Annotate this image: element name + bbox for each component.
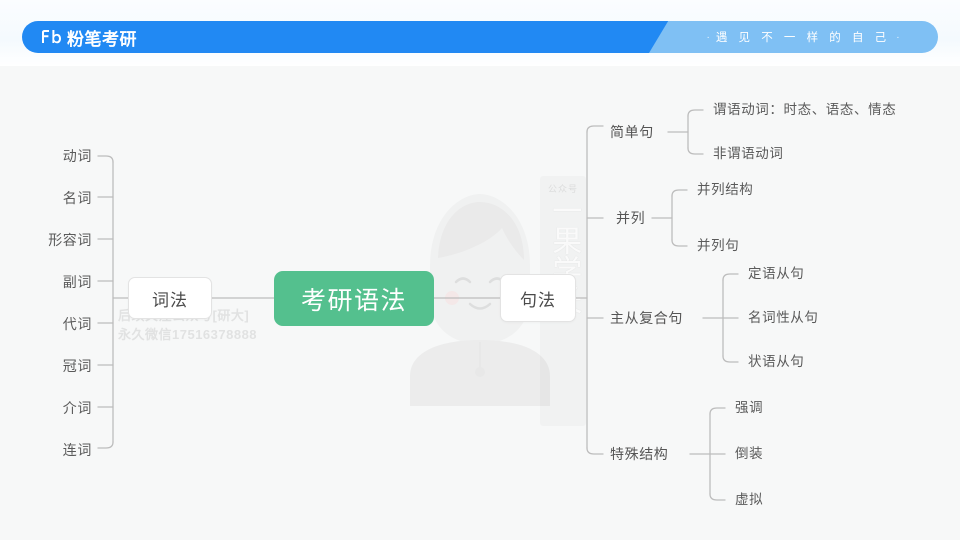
node-zhucongfuheju[interactable]: 主从复合句 bbox=[610, 311, 683, 325]
leaf-cifa-1[interactable]: 动词 bbox=[63, 149, 92, 163]
leaf-cifa-7[interactable]: 介词 bbox=[63, 401, 92, 415]
leaf-cifa-8[interactable]: 连词 bbox=[63, 443, 92, 457]
slogan-banner: · 遇 见 不 一 样 的 自 己 · bbox=[668, 21, 938, 53]
branch-node-jufa[interactable]: 句法 bbox=[500, 274, 576, 322]
leaf-zhucong-1[interactable]: 定语从句 bbox=[748, 267, 804, 281]
center-node-label: 考研语法 bbox=[301, 281, 407, 317]
leaf-jiandanju-2[interactable]: 非谓语动词 bbox=[713, 147, 784, 161]
leaf-cifa-6[interactable]: 冠词 bbox=[63, 359, 92, 373]
mindmap-canvas: 公众号 一果学长 后续关注公众号[研大] 永久微信17516378888 bbox=[0, 66, 960, 540]
slogan-text: 遇 见 不 一 样 的 自 己 bbox=[716, 29, 890, 45]
leaf-teshu-2[interactable]: 倒装 bbox=[735, 447, 763, 461]
leaf-teshu-3[interactable]: 虚拟 bbox=[735, 493, 763, 507]
leaf-cifa-3[interactable]: 形容词 bbox=[48, 233, 92, 247]
leaf-binglie-2[interactable]: 并列句 bbox=[697, 239, 739, 253]
leaf-cifa-2[interactable]: 名词 bbox=[63, 191, 92, 205]
branch-node-cifa-label: 词法 bbox=[152, 286, 188, 311]
mindmap-center-node[interactable]: 考研语法 bbox=[274, 271, 434, 326]
header-slogan: · 遇 见 不 一 样 的 自 己 · bbox=[706, 29, 899, 45]
page-header: 粉笔考研 · 遇 见 不 一 样 的 自 己 · bbox=[0, 0, 960, 66]
leaf-zhucong-2[interactable]: 名词性从句 bbox=[748, 311, 819, 325]
fb-logo-icon bbox=[40, 29, 62, 45]
leaf-teshu-1[interactable]: 强调 bbox=[735, 401, 763, 415]
leaf-cifa-4[interactable]: 副词 bbox=[63, 275, 92, 289]
branch-node-jufa-label: 句法 bbox=[520, 286, 556, 311]
leaf-cifa-5[interactable]: 代词 bbox=[63, 317, 92, 331]
leaf-zhucong-3[interactable]: 状语从句 bbox=[748, 355, 804, 369]
brand-name: 粉笔考研 bbox=[67, 25, 137, 50]
node-binglie[interactable]: 并列 bbox=[616, 211, 645, 225]
slogan-dot-left: · bbox=[706, 32, 709, 43]
leaf-binglie-1[interactable]: 并列结构 bbox=[697, 183, 753, 197]
slogan-dot-right: · bbox=[896, 32, 899, 43]
brand-banner: 粉笔考研 bbox=[22, 21, 670, 53]
branch-node-cifa[interactable]: 词法 bbox=[128, 277, 212, 319]
leaf-jiandanju-1[interactable]: 谓语动词：时态、语态、情态 bbox=[713, 103, 896, 117]
brand-logo: 粉笔考研 bbox=[22, 25, 137, 50]
node-teshujiegou[interactable]: 特殊结构 bbox=[610, 447, 668, 461]
node-jiandanju[interactable]: 简单句 bbox=[610, 125, 654, 139]
